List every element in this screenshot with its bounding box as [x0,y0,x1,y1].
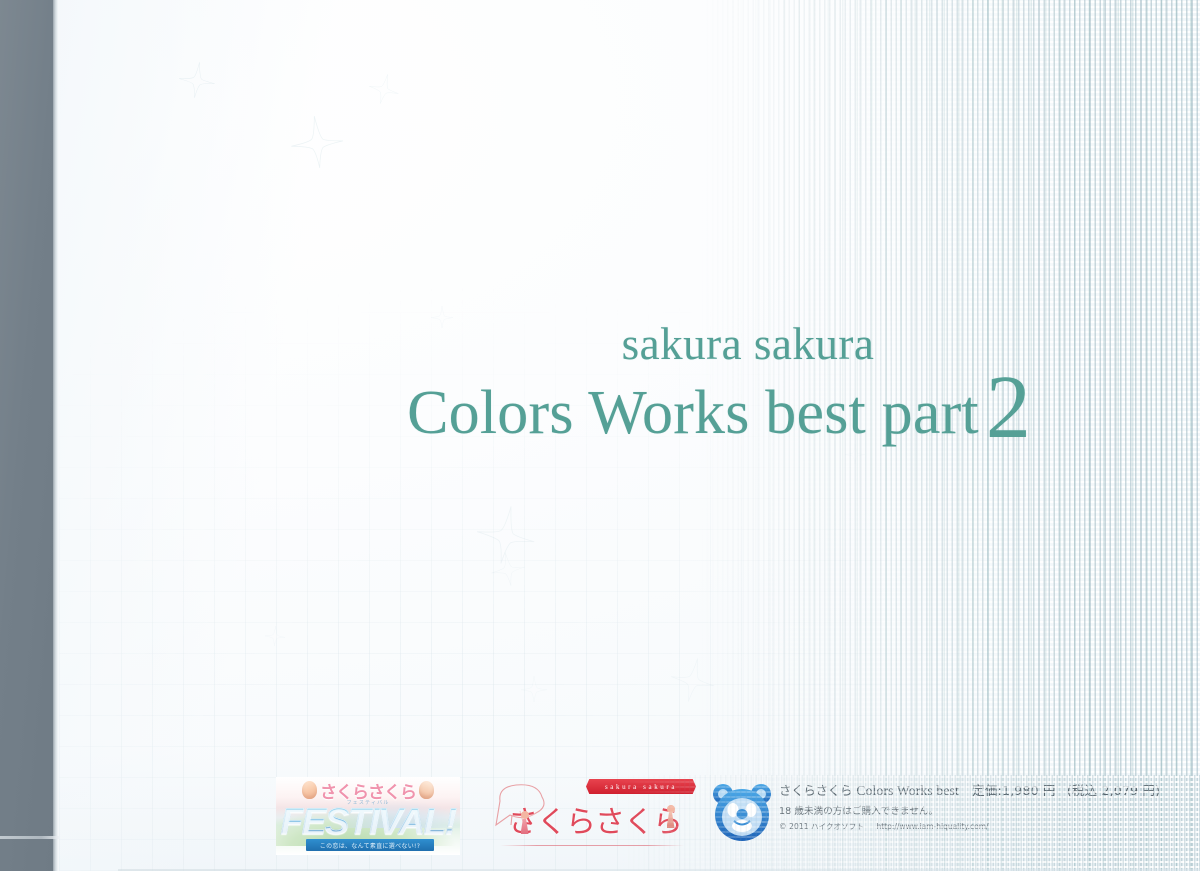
sakura-banner-text: sakura sakura [605,783,677,791]
character-face-icon [302,781,317,799]
sparkle-star-icon [472,501,539,568]
sakura-banner: sakura sakura [586,779,696,794]
logo-sakura-sakura-festival: さくらさくら フェスティバル FESTIVAL! この恋は、なんて素直に選べない… [276,777,460,855]
festival-tagline-text: この恋は、なんて素直に選べない!? [320,841,420,850]
scanner-band-seam [0,836,59,839]
product-price: 定価:1,980 円 [972,783,1055,798]
bear-logo-icon [709,781,775,845]
character-figure-icon [520,811,529,835]
product-price-tax: (税込 2,079 円) [1067,783,1160,798]
sakura-kana-text: さくらさくら [508,797,682,841]
bottom-credits-strip: さくらさくら フェスティバル FESTIVAL! この恋は、なんて素直に選べない… [118,775,1200,871]
sparkle-star-icon [264,625,285,646]
logo-sakura-sakura: sakura sakura さくらさくら [486,779,694,853]
copyright-text: © 2011 ハイクオソフト [779,822,864,831]
character-figure-icon [666,805,675,829]
publisher-url: http://www.iam-hiquality.com/ [876,822,988,831]
sparkle-star-icon [288,113,345,170]
sparkle-star-icon [667,654,719,706]
festival-tagline-bar: この恋は、なんて素直に選べない!? [306,839,434,851]
product-kana: さくらさくら [779,783,852,798]
age-restriction-notice: 18 歳未満の方はご購入できません。 [779,803,1200,817]
title-line-series: sakura sakura [417,322,1079,367]
product-title-price-line: さくらさくら Colors Works best 定価:1,980 円 (税込 … [779,780,1200,799]
festival-wordmark: FESTIVAL! [276,801,460,843]
scanner-background-band [0,0,53,871]
product-title-en: Colors Works best [856,783,959,798]
scanned-cover-page: sakura sakura Colors Works best part2 さく… [0,0,1200,871]
cover-artwork: sakura sakura Colors Works best part2 さく… [59,0,1200,871]
sparkle-star-icon [895,568,911,584]
product-info-block: さくらさくら Colors Works best 定価:1,980 円 (税込 … [779,780,1200,832]
sparkle-star-icon [177,60,218,101]
copyright-line: © 2011 ハイクオソフト http://www.iam-hiquality.… [779,821,1200,832]
sparkle-star-icon [521,676,547,702]
character-face-icon [419,781,434,799]
title-part-number: 2 [986,358,1031,457]
sparkle-star-icon [845,444,865,464]
title-main-text: Colors Works best part [407,379,979,447]
sparkle-star-icon [488,549,527,588]
title-line-main: Colors Works best part2 [359,382,1079,444]
sakura-underline [500,845,684,846]
sparkle-star-icon [366,71,402,107]
cover-title: sakura sakura Colors Works best part2 [359,322,1079,444]
